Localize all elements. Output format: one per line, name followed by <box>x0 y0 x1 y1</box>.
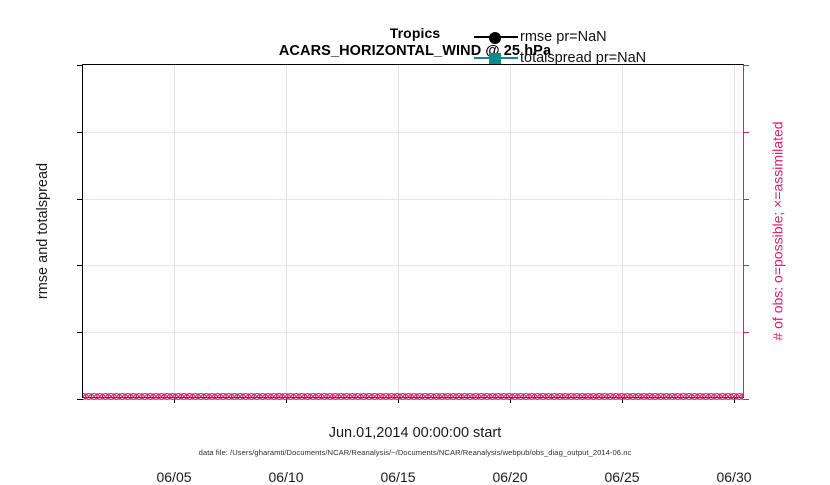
x-tick-label-0615: 06/15 <box>380 469 415 485</box>
filled-square-icon <box>489 53 501 65</box>
gridline-h-0.6 <box>83 199 743 200</box>
y-axis-title-right-text: # of obs: o=possible; ×=assimilated <box>770 121 786 340</box>
tick-bottom-0620 <box>510 397 511 403</box>
chart-title-region: Tropics <box>0 24 830 42</box>
tick-left-0.4 <box>77 265 83 266</box>
legend-item-rmse: rmse pr=NaN <box>474 26 662 47</box>
obs-marker-svg <box>83 390 743 403</box>
gridline-v-0620 <box>510 65 511 397</box>
tick-left-0.8 <box>77 132 83 133</box>
gridline-h-0.8 <box>83 132 743 133</box>
x-tick-label-0620: 06/20 <box>492 469 527 485</box>
gridline-v-0630 <box>734 65 735 397</box>
tick-right-2 <box>743 265 749 266</box>
tick-right-1 <box>743 332 749 333</box>
y-axis-title-left-text: rmse and totalspread <box>35 163 51 299</box>
plot-area: 1 0.8 0.6 0.4 0.2 0 5 4 3 2 1 0 06/05 06… <box>82 64 744 398</box>
tick-bottom-0615 <box>398 397 399 403</box>
gridline-h-0.4 <box>83 265 743 266</box>
filled-circle-icon <box>489 32 501 44</box>
tick-bottom-0625 <box>622 397 623 403</box>
tick-bottom-0630 <box>734 397 735 403</box>
data-file-caption: data file: /Users/gharamti/Documents/NCA… <box>0 448 830 457</box>
gridline-v-0625 <box>622 65 623 397</box>
x-tick-label-0610: 06/10 <box>268 469 303 485</box>
tick-left-1 <box>77 65 83 66</box>
x-tick-label-0605: 06/05 <box>156 469 191 485</box>
tick-right-4 <box>743 132 749 133</box>
chart-title-variable: ACARS_HORIZONTAL_WIND @ 25 hPa <box>0 42 830 61</box>
tick-left-0.6 <box>77 199 83 200</box>
obs-count-marker-band <box>83 390 743 403</box>
gridline-v-0615 <box>398 65 399 397</box>
gridline-v-0610 <box>286 65 287 397</box>
tick-right-5 <box>743 65 749 66</box>
tick-bottom-0610 <box>286 397 287 403</box>
legend-label-rmse: rmse pr=NaN <box>518 29 607 45</box>
x-axis-caption: Jun.01,2014 00:00:00 start <box>0 425 830 441</box>
chart-title-block: Tropics ACARS_HORIZONTAL_WIND @ 25 hPa <box>0 24 830 62</box>
gridline-h-0.2 <box>83 332 743 333</box>
x-tick-label-0630: 06/30 <box>716 469 751 485</box>
y-axis-title-right: # of obs: o=possible; ×=assimilated <box>768 64 788 398</box>
y-axis-title-left: rmse and totalspread <box>33 64 53 398</box>
gridline-v-0605 <box>174 65 175 397</box>
x-tick-label-0625: 06/25 <box>604 469 639 485</box>
tick-bottom-0605 <box>174 397 175 403</box>
tick-right-0 <box>743 399 749 400</box>
tick-right-3 <box>743 199 749 200</box>
legend-swatch-rmse <box>474 29 518 45</box>
tick-left-0.2 <box>77 332 83 333</box>
tick-left-0 <box>77 399 83 400</box>
